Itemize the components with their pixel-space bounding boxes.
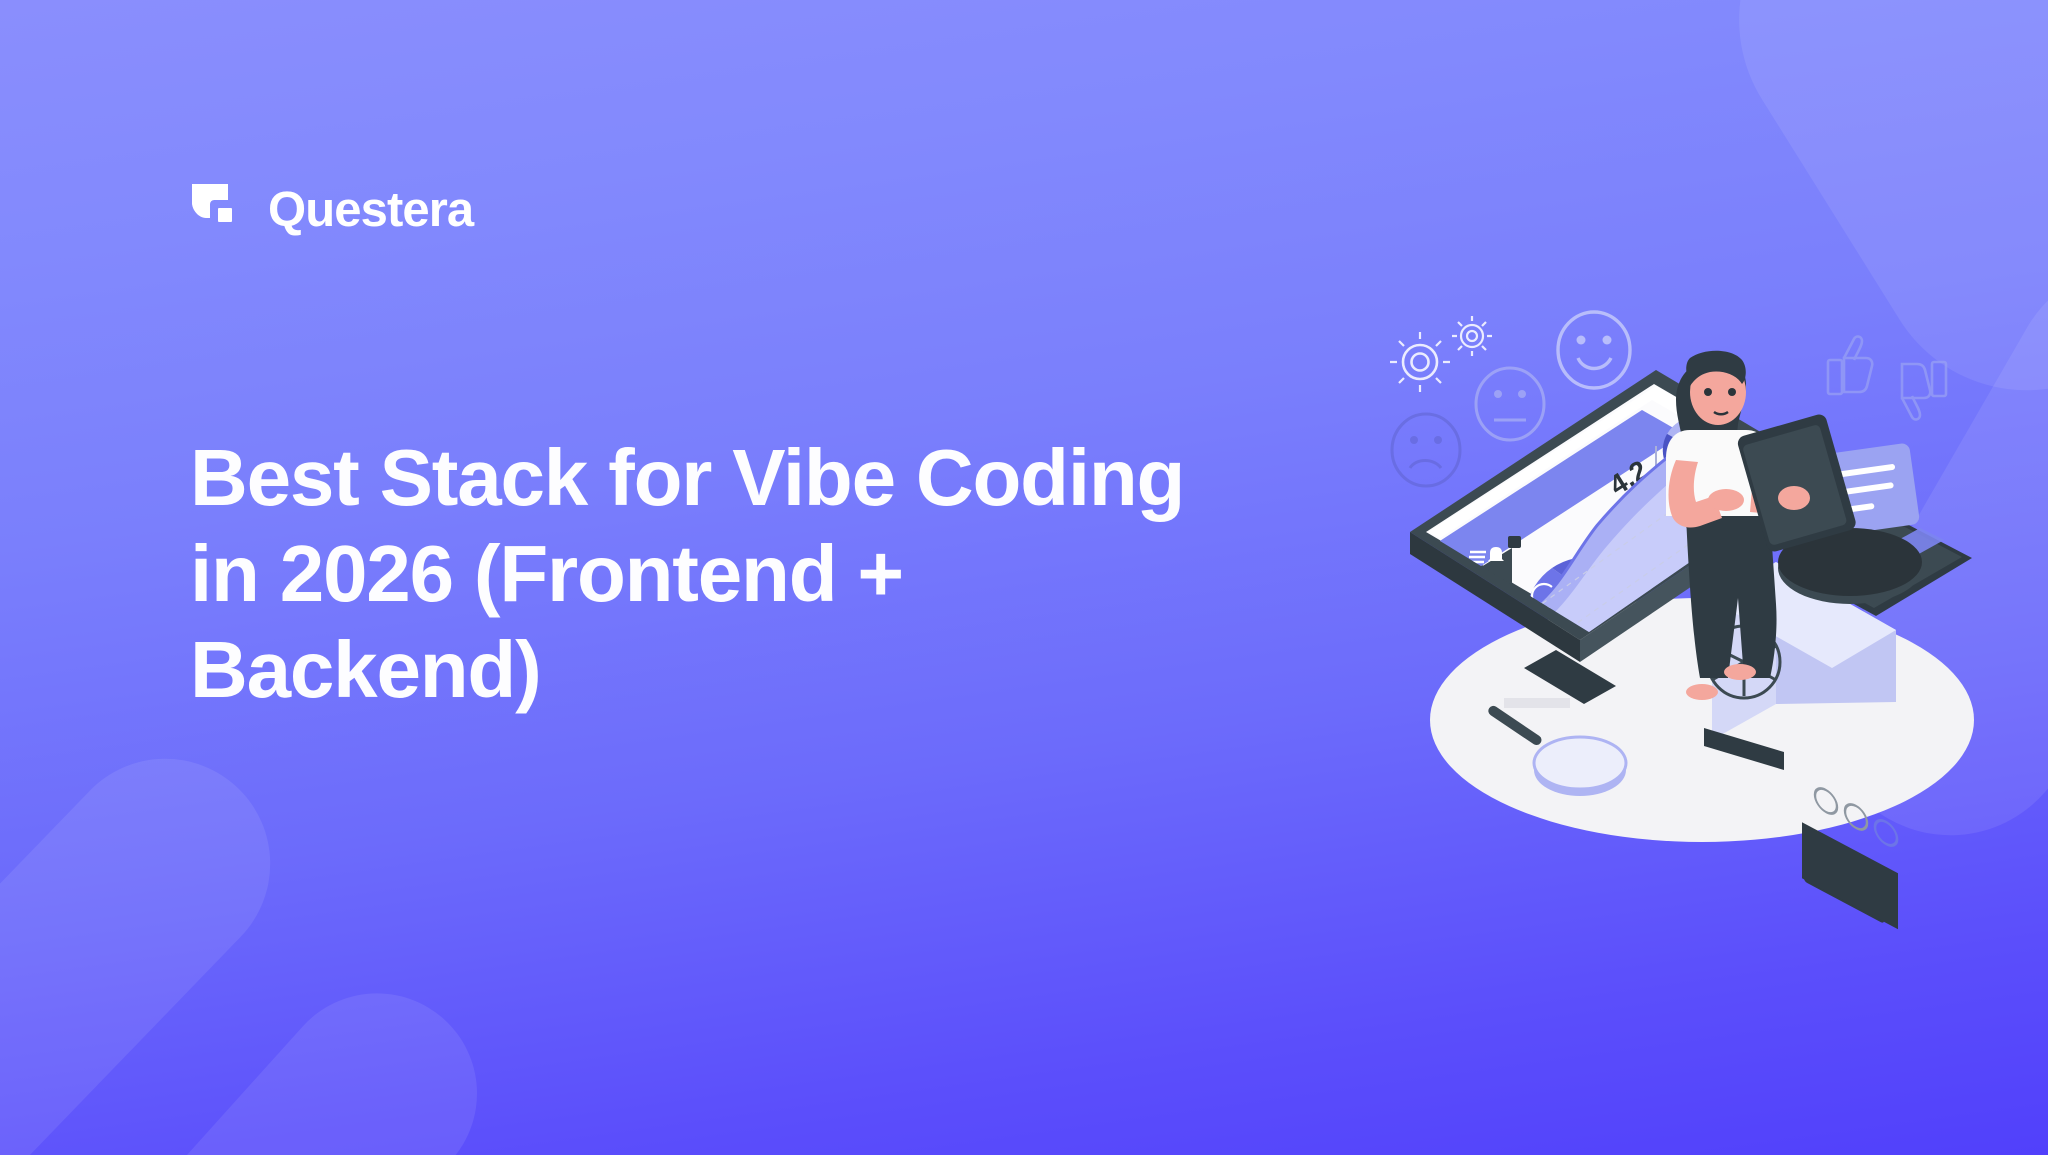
gear-small-icon — [1452, 316, 1492, 356]
page-title: Best Stack for Vibe Coding in 2026 (Fron… — [190, 430, 1190, 718]
thumbs-up-outline-icon — [1828, 337, 1872, 394]
brand-logo[interactable]: Questera — [190, 182, 473, 238]
notification-badge — [1508, 536, 1521, 548]
questera-shield-mark-icon — [190, 182, 246, 238]
neutral-face-icon — [1476, 368, 1544, 440]
happy-face-icon — [1558, 312, 1630, 388]
gear-icon — [1390, 332, 1450, 392]
happy-face-icon — [1875, 816, 1897, 850]
users-icon — [1468, 622, 1490, 638]
hero-illustration: 4.2 0 OF 5 POSITIVE — [1384, 300, 2004, 860]
hero-banner: Questera Best Stack for Vibe Coding in 2… — [0, 0, 2048, 1155]
thumbs-down-outline-icon — [1902, 362, 1946, 419]
brand-name: Questera — [268, 186, 473, 235]
decorative-blob-bottom-left-1 — [0, 715, 314, 1155]
sad-face-icon — [1392, 414, 1460, 486]
decorative-blob-bottom-left-2 — [62, 952, 518, 1155]
